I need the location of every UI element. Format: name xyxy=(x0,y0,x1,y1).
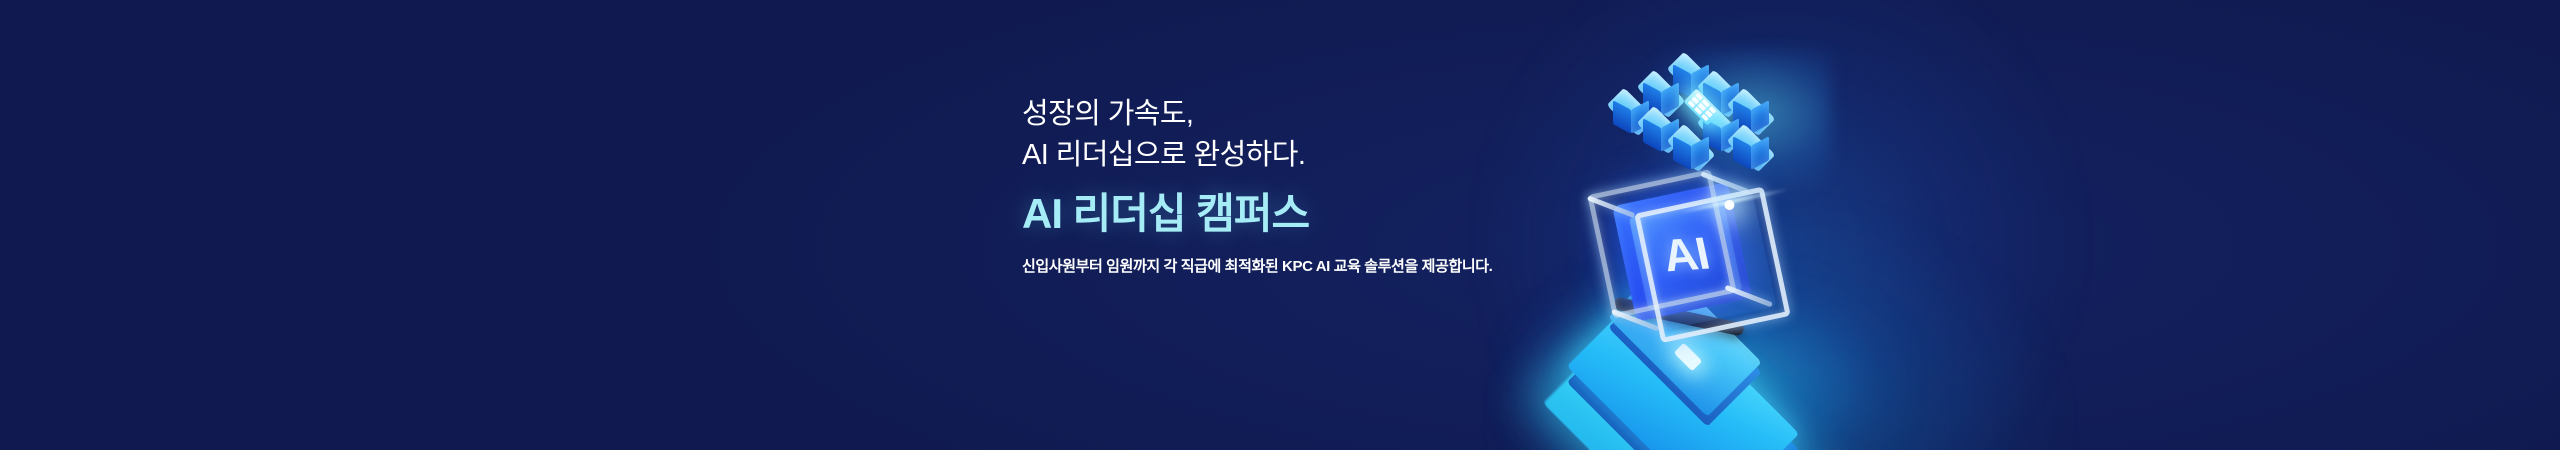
hero-lede-line-2: AI 리더십으로 완성하다. xyxy=(1022,135,1582,176)
hero-subcopy: 신입사원부터 임원까지 각 직급에 최적화된 KPC AI 교육 솔루션을 제공… xyxy=(1022,256,1582,278)
ai-cube-wireframe-front xyxy=(1634,187,1791,344)
hero-copy-block: 성장의 가속도, AI 리더십으로 완성하다. AI 리더십 캠퍼스 신입사원부… xyxy=(1022,94,1582,278)
cluster-cube xyxy=(1669,126,1713,170)
cluster-cube xyxy=(1729,126,1773,170)
ai-cube-platform-illustration: AI xyxy=(1545,18,1865,450)
hero-headline: AI 리더십 캠퍼스 xyxy=(1022,188,1582,240)
hero-banner: 성장의 가속도, AI 리더십으로 완성하다. AI 리더십 캠퍼스 신입사원부… xyxy=(0,0,2560,450)
hero-lede-line-1: 성장의 가속도, xyxy=(1022,94,1582,135)
floating-cube-cluster xyxy=(1611,44,1801,194)
